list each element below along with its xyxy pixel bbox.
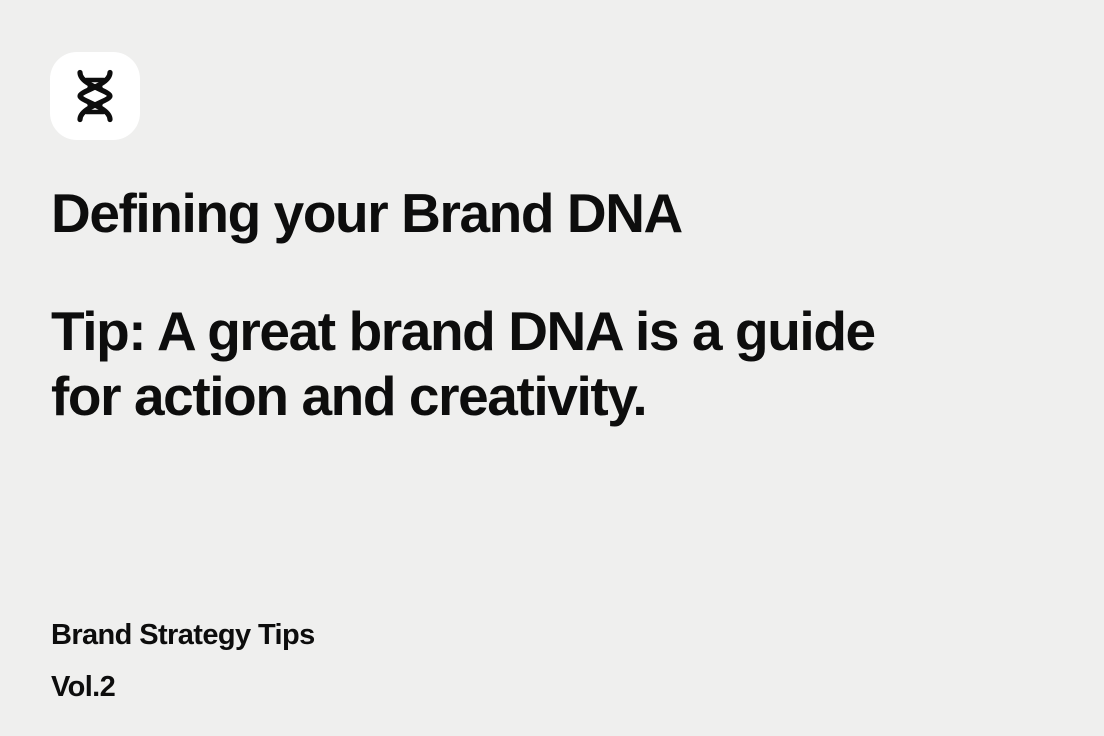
tip-headline-line-1: Tip: A great brand DNA is a guide: [51, 299, 1011, 364]
page-title: Defining your Brand DNA: [51, 181, 1051, 245]
footer-series-label: Brand Strategy Tips: [51, 609, 315, 661]
dna-icon-tile: [50, 52, 140, 140]
footer-volume-label: Vol.2: [51, 661, 315, 713]
card-content: Defining your Brand DNA Tip: A great bra…: [51, 181, 1051, 429]
dna-helix-icon: [72, 69, 118, 123]
tip-headline: Tip: A great brand DNA is a guide for ac…: [51, 245, 1011, 429]
tip-headline-line-2: for action and creativity.: [51, 364, 1011, 429]
brand-tip-card: Defining your Brand DNA Tip: A great bra…: [0, 0, 1104, 736]
card-footer: Brand Strategy Tips Vol.2: [51, 609, 315, 713]
